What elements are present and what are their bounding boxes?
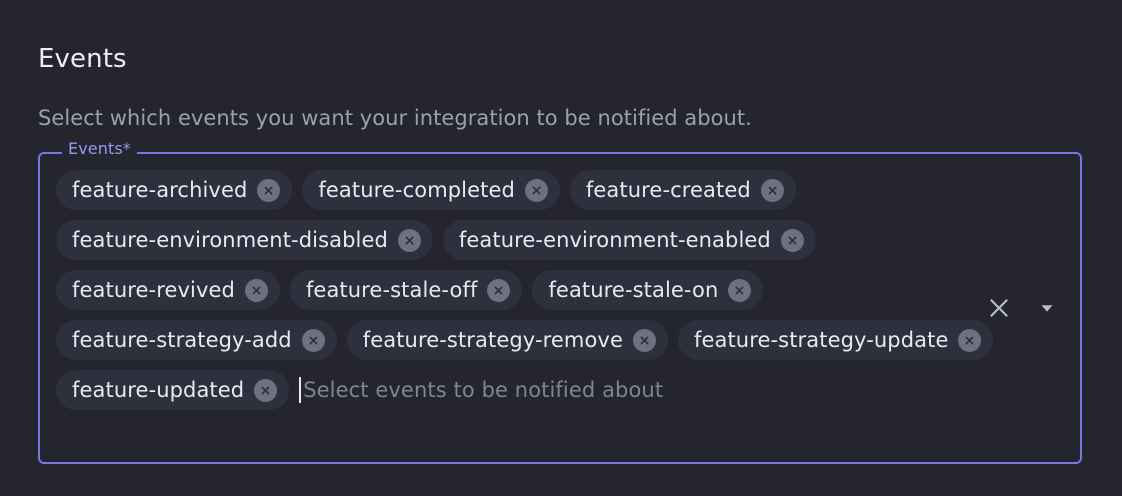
event-chip-label: feature-archived bbox=[72, 180, 257, 201]
event-chip-label: feature-environment-disabled bbox=[72, 230, 398, 251]
events-field-inner: feature-archivedfeature-completedfeature… bbox=[40, 154, 1080, 462]
events-search-placeholder: Select events to be notified about bbox=[301, 380, 663, 401]
event-chip-label: feature-stale-on bbox=[548, 280, 728, 301]
chip-delete-icon[interactable] bbox=[257, 179, 280, 202]
chip-delete-icon[interactable] bbox=[487, 279, 510, 302]
close-icon[interactable] bbox=[984, 293, 1014, 323]
event-chip[interactable]: feature-revived bbox=[56, 270, 280, 310]
event-chip-label: feature-strategy-remove bbox=[363, 330, 633, 351]
multiselect-adornments bbox=[984, 154, 1062, 462]
event-chip[interactable]: feature-stale-off bbox=[290, 270, 523, 310]
events-settings-panel: Events Select which events you want your… bbox=[0, 0, 1122, 496]
event-chip-label: feature-completed bbox=[318, 180, 525, 201]
event-chip[interactable]: feature-environment-enabled bbox=[443, 220, 816, 260]
chip-delete-icon[interactable] bbox=[254, 379, 277, 402]
section-description: Select which events you want your integr… bbox=[38, 105, 752, 132]
event-chip[interactable]: feature-created bbox=[570, 170, 796, 210]
events-search-input[interactable]: Select events to be notified about bbox=[299, 370, 996, 410]
event-chip[interactable]: feature-updated bbox=[56, 370, 289, 410]
selected-events-chip-list: feature-archivedfeature-completedfeature… bbox=[56, 170, 996, 410]
chip-delete-icon[interactable] bbox=[525, 179, 548, 202]
event-chip[interactable]: feature-environment-disabled bbox=[56, 220, 433, 260]
chevron-down-icon[interactable] bbox=[1032, 293, 1062, 323]
event-chip-label: feature-strategy-update bbox=[694, 330, 958, 351]
page-title: Events bbox=[38, 44, 127, 75]
chip-delete-icon[interactable] bbox=[761, 179, 784, 202]
chip-delete-icon[interactable] bbox=[781, 229, 804, 252]
event-chip[interactable]: feature-strategy-remove bbox=[347, 320, 668, 360]
chip-delete-icon[interactable] bbox=[633, 329, 656, 352]
chip-delete-icon[interactable] bbox=[302, 329, 325, 352]
event-chip-label: feature-created bbox=[586, 180, 761, 201]
chip-delete-icon[interactable] bbox=[245, 279, 268, 302]
event-chip[interactable]: feature-strategy-add bbox=[56, 320, 337, 360]
event-chip-label: feature-revived bbox=[72, 280, 245, 301]
event-chip[interactable]: feature-stale-on bbox=[532, 270, 763, 310]
event-chip-label: feature-updated bbox=[72, 380, 254, 401]
events-multiselect[interactable]: Events* feature-archivedfeature-complete… bbox=[38, 152, 1082, 464]
chip-delete-icon[interactable] bbox=[958, 329, 981, 352]
chip-delete-icon[interactable] bbox=[728, 279, 751, 302]
event-chip-label: feature-strategy-add bbox=[72, 330, 302, 351]
event-chip-label: feature-environment-enabled bbox=[459, 230, 781, 251]
event-chip[interactable]: feature-strategy-update bbox=[678, 320, 993, 360]
event-chip-label: feature-stale-off bbox=[306, 280, 488, 301]
event-chip[interactable]: feature-completed bbox=[302, 170, 560, 210]
event-chip[interactable]: feature-archived bbox=[56, 170, 292, 210]
chip-delete-icon[interactable] bbox=[398, 229, 421, 252]
